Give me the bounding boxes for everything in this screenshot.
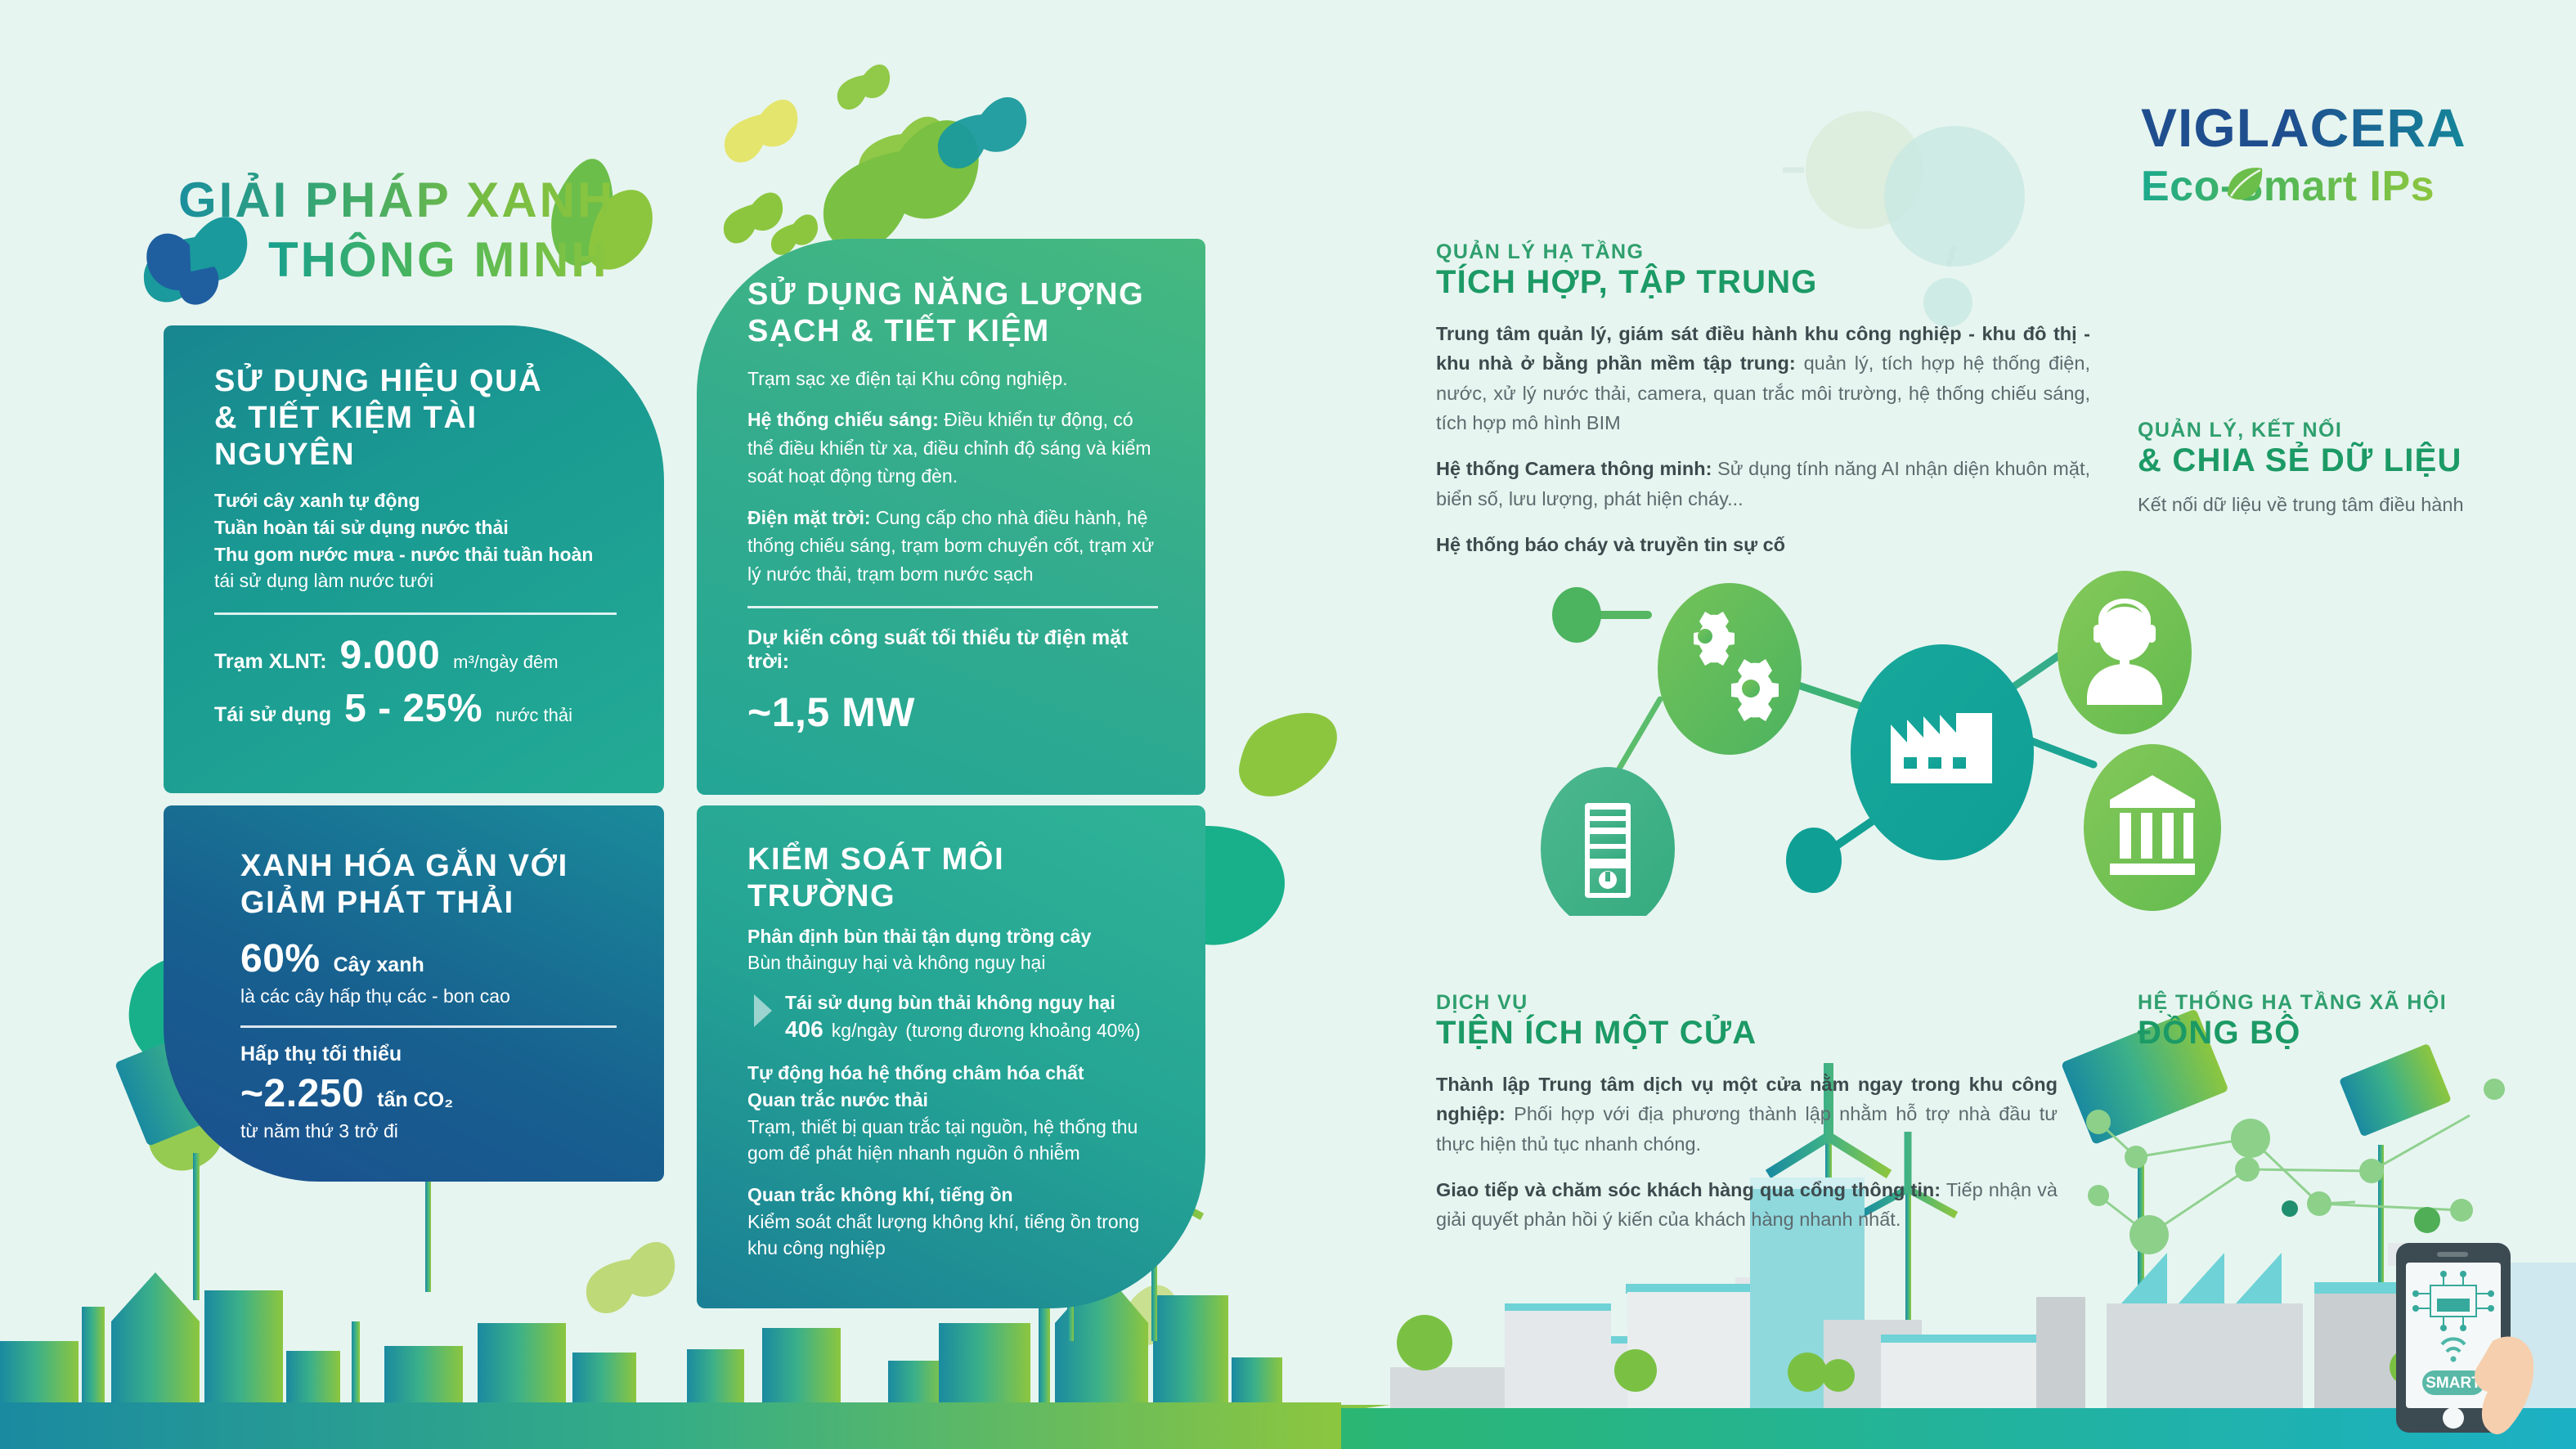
energy-intro: Trạm sạc xe điện tại Khu công nghiệp. — [747, 365, 1158, 393]
data-sub: Kết nối dữ liệu về trung tâm điều hành — [2138, 491, 2530, 519]
greening-percent: 60% — [240, 936, 321, 981]
energy-footer-value: ~1,5 MW — [747, 689, 1158, 736]
greening-percent-label: Cây xanh — [334, 953, 424, 977]
infrastructure-p3: Hệ thống báo cháy và truyền tin sự cố — [1436, 530, 2090, 559]
env-highlight-head: Tái sử dụng bùn thải không nguy hại — [785, 989, 1141, 1016]
stat-reuse-value: 5 - 25% — [344, 686, 482, 731]
node-dot — [1552, 587, 1601, 643]
brand-logo: VIGLACERA Eco-Smart IPs — [2141, 96, 2466, 211]
stat-wwtp-value: 9.000 — [340, 633, 441, 678]
social-kicker: HỆ THỐNG HẠ TẦNG XÃ HỘI — [2138, 991, 2563, 1015]
energy-lighting-label: Hệ thống chiếu sáng: — [747, 409, 939, 430]
env-highlight: Tái sử dụng bùn thải không nguy hại 406 … — [754, 989, 1158, 1043]
infrastructure-kicker: QUẢN LÝ HẠ TẦNG — [1436, 240, 2090, 264]
block-infrastructure: QUẢN LÝ HẠ TẦNG TÍCH HỢP, TẬP TRUNG Trun… — [1436, 240, 2090, 560]
page-title: GIẢI PHÁP XANH THÔNG MINH — [178, 170, 615, 289]
services-p2-bold: Giao tiếp và chăm sóc khách hàng qua cổn… — [1436, 1179, 1941, 1200]
brand-name: VIGLACERA — [2141, 96, 2466, 159]
stat-wwtp-unit: m³/ngày đêm — [453, 652, 558, 673]
headline-line-2: THÔNG MINH — [268, 230, 615, 289]
headline-line-1: GIẢI PHÁP XANH — [178, 170, 615, 230]
triangle-marker-icon — [754, 994, 772, 1027]
panel-environmental-control: KIỂM SOÁT MÔI TRƯỜNG Phân định bùn thải … — [697, 805, 1205, 1308]
infrastructure-p2-bold: Hệ thống Camera thông minh: — [1436, 458, 1712, 479]
env-h4-sub: Kiểm soát chất lượng không khí, tiếng ồn… — [747, 1209, 1158, 1262]
node-gears — [1658, 583, 1802, 755]
network-diagram — [1537, 564, 2224, 916]
greening-absorb-note: từ năm thứ 3 trở đi — [240, 1118, 617, 1145]
infrastructure-p1: Trung tâm quản lý, giám sát điều hành kh… — [1436, 319, 2090, 438]
resource-bullet-2: Tuần hoàn tái sử dụng nước thải — [214, 514, 617, 541]
panel-resource-efficiency: SỬ DỤNG HIỆU QUẢ & TIẾT KIỆM TÀI NGUYÊN … — [164, 325, 664, 793]
env-h3-sub: Trạm, thiết bị quan trắc tại nguồn, hệ t… — [747, 1114, 1158, 1167]
env-h4: Quan trắc không khí, tiếng ồn — [747, 1182, 1158, 1209]
stat-reuse-unit: nước thải — [496, 705, 572, 726]
block-services: DỊCH VỤ TIỆN ÍCH MỘT CỬA Thành lập Trung… — [1436, 991, 2058, 1235]
stat-reuse: Tái sử dụng 5 - 25% nước thải — [214, 686, 617, 731]
leaf-icon — [2219, 162, 2269, 204]
stat-wwtp-label: Trạm XLNT: — [214, 650, 327, 674]
services-head: TIỆN ÍCH MỘT CỬA — [1436, 1015, 2058, 1052]
energy-solar: Điện mặt trời: Cung cấp cho nhà điều hàn… — [747, 504, 1158, 589]
data-kicker: QUẢN LÝ, KẾT NỐI — [2138, 419, 2530, 442]
env-highlight-paren: (tương đương khoảng 40%) — [905, 1017, 1140, 1044]
panel-energy-title: SỬ DỤNG NĂNG LƯỢNG SẠCH & TIẾT KIỆM — [747, 276, 1158, 350]
stat-wwtp: Trạm XLNT: 9.000 m³/ngày đêm — [214, 633, 617, 678]
env-highlight-value: 406 — [785, 1016, 824, 1043]
env-h2: Tự động hóa hệ thống châm hóa chất — [747, 1060, 1158, 1087]
node-factory — [1851, 644, 2034, 860]
panel-resource-title: SỬ DỤNG HIỆU QUẢ & TIẾT KIỆM TÀI NGUYÊN — [214, 363, 617, 473]
energy-footer-label: Dự kiến công suất tối thiểu từ điện mặt … — [747, 626, 1158, 674]
greening-absorb-value: ~2.250 — [240, 1071, 364, 1116]
resource-bullet-1: Tưới cây xanh tự động — [214, 487, 617, 514]
services-p2: Giao tiếp và chăm sóc khách hàng qua cổn… — [1436, 1175, 2058, 1235]
node-dot — [1786, 828, 1842, 893]
node-operator — [2058, 571, 2192, 734]
block-data-sharing: QUẢN LÝ, KẾT NỐI & CHIA SẺ DỮ LIỆU Kết n… — [2138, 419, 2530, 519]
energy-solar-label: Điện mặt trời: — [747, 507, 871, 528]
divider — [747, 606, 1158, 608]
data-head: & CHIA SẺ DỮ LIỆU — [2138, 442, 2530, 479]
energy-lighting: Hệ thống chiếu sáng: Điều khiển tự động,… — [747, 406, 1158, 491]
server-icon — [1585, 803, 1631, 898]
svg-text:SMART: SMART — [2426, 1375, 2481, 1392]
greening-absorb-label: Hấp thụ tối thiểu — [240, 1043, 617, 1066]
greening-note: là các cây hấp thụ các - bon cao — [240, 983, 617, 1010]
services-p1: Thành lập Trung tâm dịch vụ một cửa nằm … — [1436, 1070, 2058, 1159]
node-bank — [2084, 744, 2221, 911]
env-h1: Phân định bùn thải tận dụng trồng cây — [747, 923, 1158, 950]
services-body: Thành lập Trung tâm dịch vụ một cửa nằm … — [1436, 1070, 2058, 1235]
block-social-infrastructure: HỆ THỐNG HẠ TẦNG XÃ HỘI ĐỒNG BỘ — [2138, 991, 2563, 1052]
greening-absorb-unit: tấn CO₂ — [377, 1088, 453, 1112]
services-p1-text: Phối hợp với địa phương thành lập nhằm h… — [1436, 1103, 2058, 1154]
panel-clean-energy: SỬ DỤNG NĂNG LƯỢNG SẠCH & TIẾT KIỆM Trạm… — [697, 239, 1205, 795]
resource-bullet-3: Thu gom nước mưa - nước thải tuần hoàn — [214, 541, 617, 568]
services-kicker: DỊCH VỤ — [1436, 991, 2058, 1015]
stat-reuse-label: Tái sử dụng — [214, 703, 331, 727]
env-h1-sub: Bùn thảinguy hại và không nguy hại — [747, 949, 1158, 976]
infographic-canvas: SMART GIẢI PHÁP XANH THÔNG MINH SỬ DỤNG … — [0, 0, 2576, 1449]
node-server — [1541, 767, 1675, 916]
greening-absorb-row: ~2.250 tấn CO₂ — [240, 1071, 617, 1116]
panel-greening-emissions: XANH HÓA GẮN VỚI GIẢM PHÁT THẢI 60% Cây … — [164, 805, 664, 1182]
social-head: ĐỒNG BỘ — [2138, 1015, 2563, 1052]
infrastructure-body: Trung tâm quản lý, giám sát điều hành kh… — [1436, 319, 2090, 560]
panel-environment-title: KIỂM SOÁT MÔI TRƯỜNG — [747, 841, 1158, 915]
infrastructure-p2: Hệ thống Camera thông minh: Sử dụng tính… — [1436, 454, 2090, 514]
divider — [240, 1025, 617, 1028]
brand-tagline: Eco-Smart IPs — [2141, 162, 2435, 211]
infrastructure-p3-bold: Hệ thống báo cháy và truyền tin sự cố — [1436, 534, 1785, 555]
divider — [214, 612, 617, 615]
resource-note: tái sử dụng làm nước tưới — [214, 567, 617, 594]
env-highlight-unit: kg/ngày — [832, 1017, 898, 1044]
env-h3: Quan trắc nước thải — [747, 1087, 1158, 1114]
panel-greening-title: XANH HÓA GẮN VỚI GIẢM PHÁT THẢI — [240, 848, 617, 922]
infrastructure-head: TÍCH HỢP, TẬP TRUNG — [1436, 264, 2090, 301]
greening-percent-row: 60% Cây xanh — [240, 936, 617, 981]
